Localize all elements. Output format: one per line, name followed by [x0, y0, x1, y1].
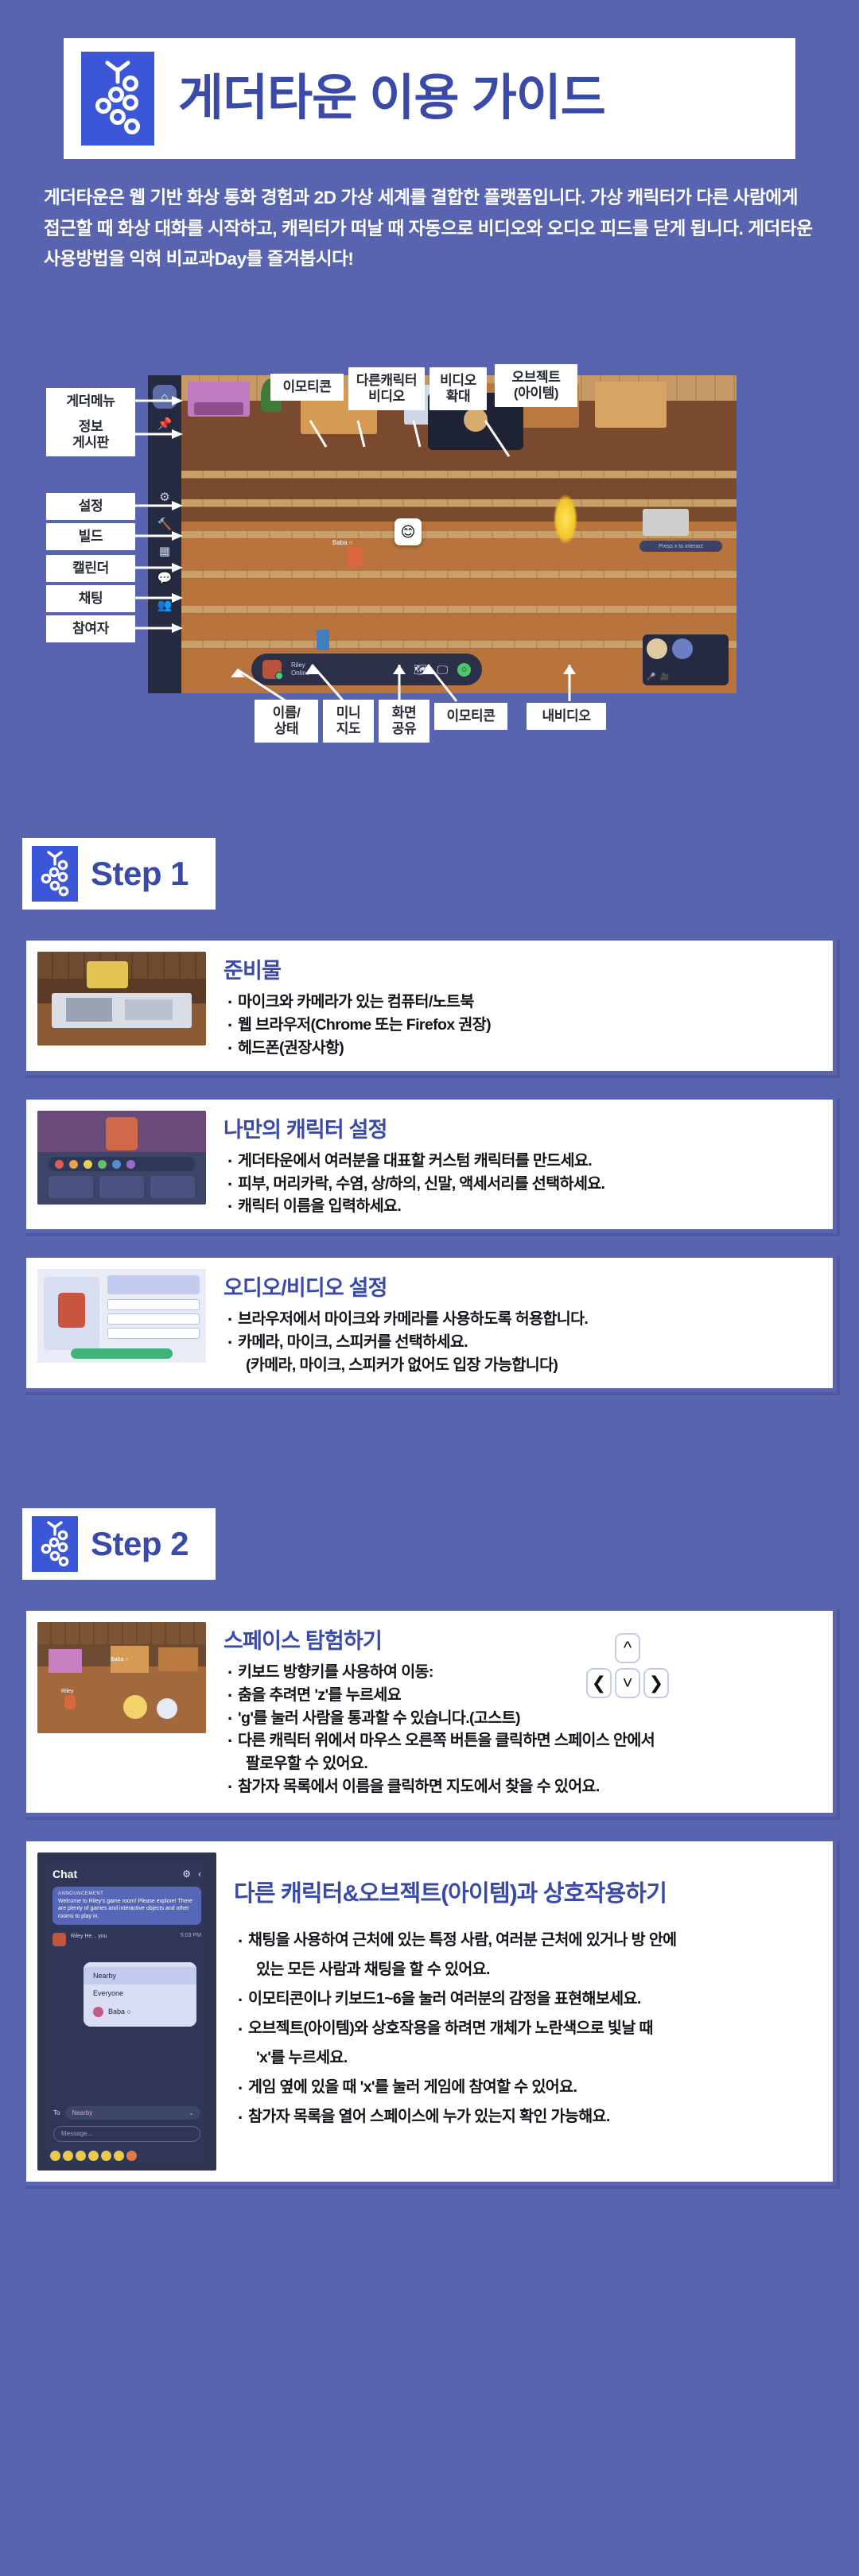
list-item: 캐릭터 이름을 입력하세요. — [223, 1195, 822, 1218]
chat-bubble-icon[interactable]: 💬 — [153, 566, 177, 590]
game-room-art: Press x to interact Baba ○ 😊 Baba ○ Rile… — [181, 375, 737, 693]
trashcan-art — [317, 630, 329, 650]
gather-app-screenshot: Press x to interact Baba ○ 😊 Baba ○ Rile… — [148, 375, 737, 693]
pin-icon[interactable]: 📌 — [153, 412, 177, 436]
gather-town-logo-icon — [81, 52, 154, 145]
title-box: 게더타운 이용 가이드 — [64, 38, 795, 159]
list-item: 'g'를 눌러 사람을 통과할 수 있습니다.(고스트) — [223, 1707, 822, 1730]
list-item: (카메라, 마이크, 스피커가 없어도 입장 가능합니다) — [223, 1354, 822, 1377]
chevron-left-icon[interactable]: ‹ — [198, 1868, 201, 1880]
arrow-up-key: ^ — [615, 1633, 640, 1663]
callout-video-zoom: 비디오 확대 — [429, 367, 487, 410]
chevron-down-icon: ⌄ — [189, 2109, 194, 2116]
dropdown-option-user[interactable]: Baba ○ — [84, 2002, 196, 2022]
bullet-list: 채팅을 사용하여 근처에 있는 특정 사람, 여러분 근처에 있거나 방 안에 … — [234, 1926, 822, 2132]
card-title: 스페이스 탐험하기 — [223, 1624, 822, 1655]
card-interaction: Chat ⚙ ‹ ANNOUNCEMENT Welcome to Riley's… — [22, 1837, 837, 2186]
my-video-tile[interactable]: 🎤 🎥 — [643, 634, 729, 685]
message-input-placeholder: Message... — [61, 2130, 92, 2137]
card-character-setup: 나만의 캐릭터 설정 게더타운에서 여러분을 대표할 커스텀 캐릭터를 만드세요… — [22, 1096, 837, 1234]
chat-message: Riley He... you 5:03 PM — [52, 1933, 201, 1946]
emoji-3-icon[interactable] — [76, 2151, 86, 2161]
peer-video-avatar — [672, 638, 693, 659]
callout-emoticon: 이모티콘 — [270, 374, 344, 401]
recipient-value: Nearby — [72, 2109, 92, 2116]
interaction-hint-pill: Press x to interact — [639, 541, 722, 552]
card-title: 준비물 — [223, 953, 822, 984]
home-icon[interactable]: ⌂ — [153, 385, 177, 409]
gather-town-logo-icon — [32, 1516, 78, 1572]
computer-desk-thumbnail — [37, 952, 206, 1046]
app-bottom-toolbar[interactable]: Riley Online 🗺 🖵 ☺ — [251, 654, 482, 685]
user-name: Riley — [291, 661, 309, 669]
page-title: 게더타운 이용 가이드 — [178, 74, 605, 123]
card-preparation: 준비물 마이크와 카메라가 있는 컴퓨터/노트북 웹 브라우저(Chrome 또… — [22, 937, 837, 1075]
bullet-list: 마이크와 카메라가 있는 컴퓨터/노트북 웹 브라우저(Chrome 또는 Fi… — [223, 991, 822, 1060]
list-item: 브라우저에서 마이크와 카메라를 사용하도록 허용합니다. — [223, 1308, 822, 1331]
gear-icon[interactable]: ⚙ — [153, 485, 177, 509]
emoji-1-icon[interactable] — [50, 2151, 60, 2161]
other-character-avatar — [464, 408, 488, 432]
chat-message-body: Riley He... you — [71, 1933, 107, 1940]
callout-minimap: 미니 지도 — [323, 700, 374, 743]
bullet-list: 브라우저에서 마이크와 카메라를 사용하도록 허용합니다. 카메라, 마이크, … — [223, 1308, 822, 1377]
gather-town-logo-icon — [32, 846, 78, 902]
dropdown-option-user-label: Baba ○ — [108, 2008, 131, 2015]
list-item: 있는 모든 사람과 채팅을 할 수 있어요. — [234, 1955, 822, 1984]
card-title: 오디오/비디오 설정 — [223, 1271, 822, 1302]
page-header: 게더타운 이용 가이드 — [0, 0, 859, 159]
emoji-4-icon[interactable] — [88, 2151, 99, 2161]
app-left-sidebar[interactable]: ⌂ 📌 ⚙ 🔨 ▦ 💬 👥 — [148, 375, 181, 693]
nearby-character-name: Baba ○ — [332, 539, 353, 546]
avatar[interactable] — [262, 660, 282, 679]
user-status: Online — [291, 669, 309, 677]
callout-name-status: 이름/ 상태 — [255, 700, 318, 743]
emoticon-bubble-icon: 😊 — [395, 518, 422, 545]
recipient-dropdown-menu[interactable]: Nearby Everyone Baba ○ — [84, 1962, 196, 2027]
callout-settings: 설정 — [46, 493, 135, 520]
list-item: 키보드 방향키를 사용하여 이동: — [223, 1661, 822, 1684]
card-av-settings: 오디오/비디오 설정 브라우저에서 마이크와 카메라를 사용하도록 허용합니다.… — [22, 1254, 837, 1392]
list-item: 오브젝트(아이템)와 상호작용을 하려면 개체가 노란색으로 빛날 때 — [234, 2014, 822, 2043]
chat-panel-mock: Chat ⚙ ‹ ANNOUNCEMENT Welcome to Riley's… — [45, 1860, 208, 2163]
callout-my-video: 내비디오 — [527, 703, 606, 730]
announcement-banner: ANNOUNCEMENT Welcome to Riley's game roo… — [52, 1887, 201, 1925]
emoji-5-icon[interactable] — [101, 2151, 111, 2161]
intro-paragraph: 게더타운은 웹 기반 화상 통화 경험과 2D 가상 세계를 결합한 플랫폼입니… — [0, 159, 859, 275]
people-icon[interactable]: 👥 — [153, 593, 177, 617]
list-item: 게임 옆에 있을 때 'x'를 눌러 게임에 참여할 수 있어요. — [234, 2073, 822, 2102]
dropdown-option-nearby[interactable]: Nearby — [84, 1967, 196, 1984]
hammer-icon[interactable]: 🔨 — [153, 512, 177, 536]
list-item: 마이크와 카메라가 있는 컴퓨터/노트북 — [223, 991, 822, 1014]
character-builder-thumbnail — [37, 1111, 206, 1205]
callout-calendar: 캘린더 — [46, 555, 135, 582]
message-input[interactable]: Message... — [53, 2126, 200, 2142]
gear-icon[interactable]: ⚙ — [182, 1868, 191, 1880]
card-title: 나만의 캐릭터 설정 — [223, 1112, 822, 1143]
step-1-label: Step 1 — [91, 855, 189, 893]
list-item: 'x'를 누르세요. — [234, 2043, 822, 2073]
card-explore-space: Baba ○ Riley 스페이스 탐험하기 ^ ❮ ˅ ❯ 키보드 방향키를 … — [22, 1607, 837, 1817]
monitor-icon[interactable]: 🖵 — [437, 663, 449, 677]
step-1-badge: Step 1 — [22, 838, 216, 910]
list-item: 게더타운에서 여러분을 대표할 커스텀 캐릭터를 만드세요. — [223, 1150, 822, 1173]
mic-muted-icon[interactable]: 🎤 — [647, 673, 655, 681]
whiteboard-art — [643, 509, 689, 536]
highlighted-object-glow — [554, 495, 577, 544]
recipient-value-pill[interactable]: Nearby ⌄ — [65, 2106, 200, 2120]
emoji-6-icon[interactable] — [114, 2151, 124, 2161]
callout-emoticon-toolbar: 이모티콘 — [434, 703, 507, 730]
calendar-icon[interactable]: ▦ — [153, 539, 177, 563]
emoji-7-icon[interactable] — [126, 2151, 137, 2161]
avatar — [52, 1933, 66, 1946]
smiley-icon[interactable]: ☺ — [457, 663, 471, 677]
list-item: 카메라, 마이크, 스피커를 선택하세요. — [223, 1331, 822, 1354]
step-2-label: Step 2 — [91, 1525, 189, 1563]
list-item: 웹 브라우저(Chrome 또는 Firefox 권장) — [223, 1014, 822, 1037]
callout-info-board: 정보 게시판 — [46, 413, 135, 456]
list-item: 춤을 추려면 'z'를 누르세요 — [223, 1684, 822, 1707]
avatar — [93, 2007, 103, 2017]
chat-panel-thumbnail: Chat ⚙ ‹ ANNOUNCEMENT Welcome to Riley's… — [37, 1852, 216, 2171]
emoji-2-icon[interactable] — [63, 2151, 73, 2161]
callout-gather-menu: 게더메뉴 — [46, 388, 135, 415]
callout-other-character-video: 다른캐릭터 비디오 — [348, 367, 425, 410]
list-item: 헤드폰(권장사항) — [223, 1037, 822, 1060]
recipient-label: To — [53, 2109, 60, 2116]
camera-off-icon[interactable]: 🎥 — [660, 673, 669, 681]
callout-object-item: 오브젝트 (아이템) — [495, 364, 577, 407]
callout-screen-share: 화면 공유 — [379, 700, 429, 743]
player-character-sprite — [347, 547, 363, 568]
my-video-avatar — [647, 638, 667, 659]
dropdown-option-everyone[interactable]: Everyone — [84, 1984, 196, 2002]
list-item: 팔로우할 수 있어요. — [223, 1752, 822, 1775]
list-item: 이모티콘이나 키보드1~6을 눌러 여러분의 감정을 표현해보세요. — [234, 1984, 822, 2014]
callout-chat: 채팅 — [46, 585, 135, 612]
card-title: 다른 캐릭터&오브젝트(아이템)과 상호작용하기 — [234, 1875, 822, 1908]
chat-title: Chat — [52, 1868, 77, 1880]
list-item: 다른 캐릭터 위에서 마우스 오른쪽 버튼을 클릭하면 스페이스 안에서 — [223, 1729, 822, 1752]
list-item: 참가자 목록을 열어 스페이스에 누가 있는지 확인 가능해요. — [234, 2102, 822, 2132]
list-item: 피부, 머리카락, 수염, 상/하의, 신말, 액세서리를 선택하세요. — [223, 1173, 822, 1196]
bullet-list: 게더타운에서 여러분을 대표할 커스텀 캐릭터를 만드세요. 피부, 머리카락,… — [223, 1150, 822, 1219]
emoji-bar[interactable] — [50, 2151, 204, 2161]
user-name-status: Riley Online — [291, 661, 309, 677]
list-item: 참가자 목록에서 이름을 클릭하면 지도에서 찾을 수 있어요. — [223, 1775, 822, 1798]
recipient-selector[interactable]: To Nearby ⌄ — [53, 2106, 200, 2120]
callout-participants: 참여자 — [46, 615, 135, 642]
list-item: 채팅을 사용하여 근처에 있는 특정 사람, 여러분 근처에 있거나 방 안에 — [234, 1926, 822, 1955]
space-map-thumbnail: Baba ○ Riley — [37, 1622, 206, 1733]
chat-message-time: 5:03 PM — [181, 1933, 201, 1938]
announcement-header: ANNOUNCEMENT — [58, 1891, 196, 1896]
step-2-badge: Step 2 — [22, 1508, 216, 1580]
map-icon[interactable]: 🗺 — [414, 663, 428, 677]
announcement-body: Welcome to Riley's game room! Please exp… — [58, 1898, 196, 1920]
callout-build: 빌드 — [46, 523, 135, 550]
annotated-screenshot-diagram: Press x to interact Baba ○ 😊 Baba ○ Rile… — [32, 297, 827, 743]
av-settings-thumbnail — [37, 1269, 206, 1363]
bullet-list: 키보드 방향키를 사용하여 이동: 춤을 추려면 'z'를 누르세요 'g'를 … — [223, 1661, 822, 1798]
